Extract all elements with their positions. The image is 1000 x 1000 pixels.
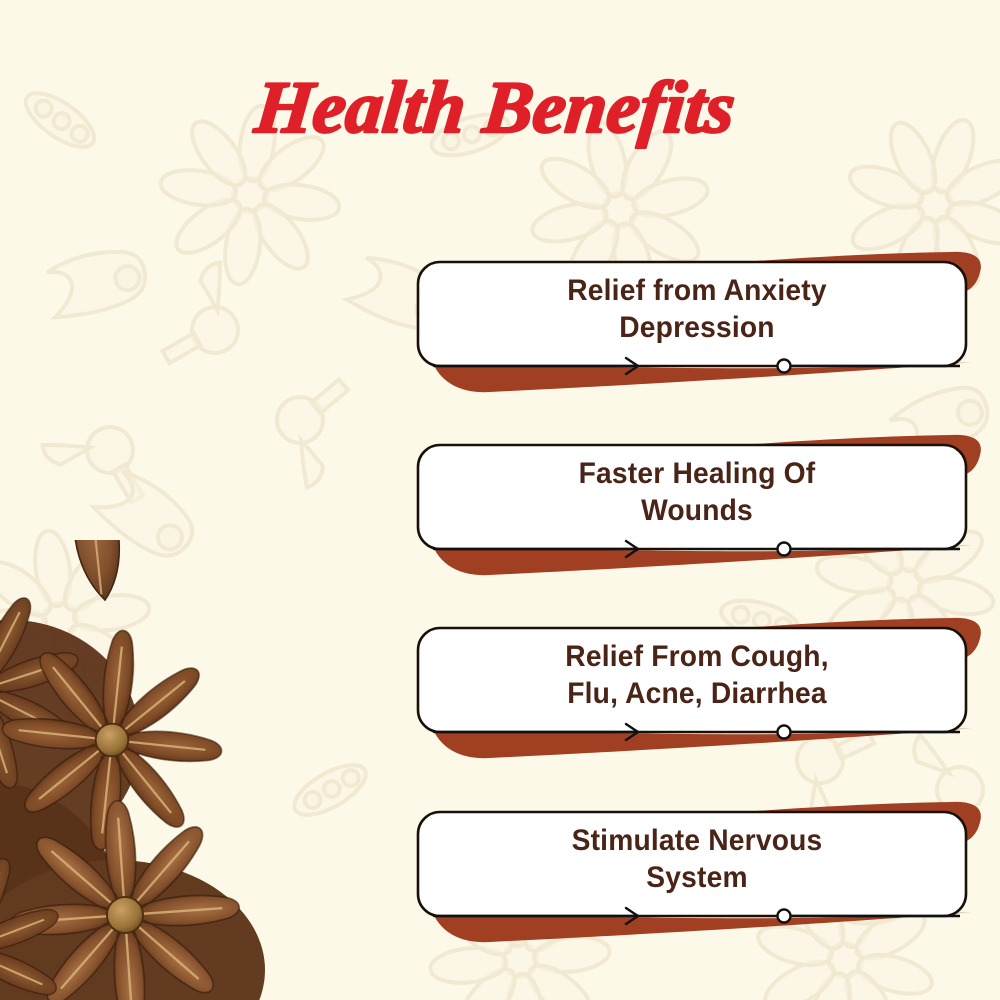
card-body bbox=[418, 812, 966, 916]
page-title-text: Health Benefits bbox=[250, 67, 738, 149]
card-body bbox=[418, 262, 966, 366]
benefit-card-2[interactable]: Faster Healing Of Wounds bbox=[412, 433, 988, 583]
health-benefits-poster: Health Benefits Relief from Anxiety Depr… bbox=[0, 0, 1000, 1000]
benefit-card-3[interactable]: Relief From Cough, Flu, Acne, Diarrhea bbox=[412, 616, 988, 766]
star-anise-photo bbox=[0, 540, 360, 1000]
benefit-card-4[interactable]: Stimulate Nervous System bbox=[412, 800, 988, 950]
card-body bbox=[418, 445, 966, 549]
page-title: Health Benefits bbox=[0, 62, 1000, 158]
card-body bbox=[418, 628, 966, 732]
benefit-card-1[interactable]: Relief from Anxiety Depression bbox=[412, 250, 988, 400]
